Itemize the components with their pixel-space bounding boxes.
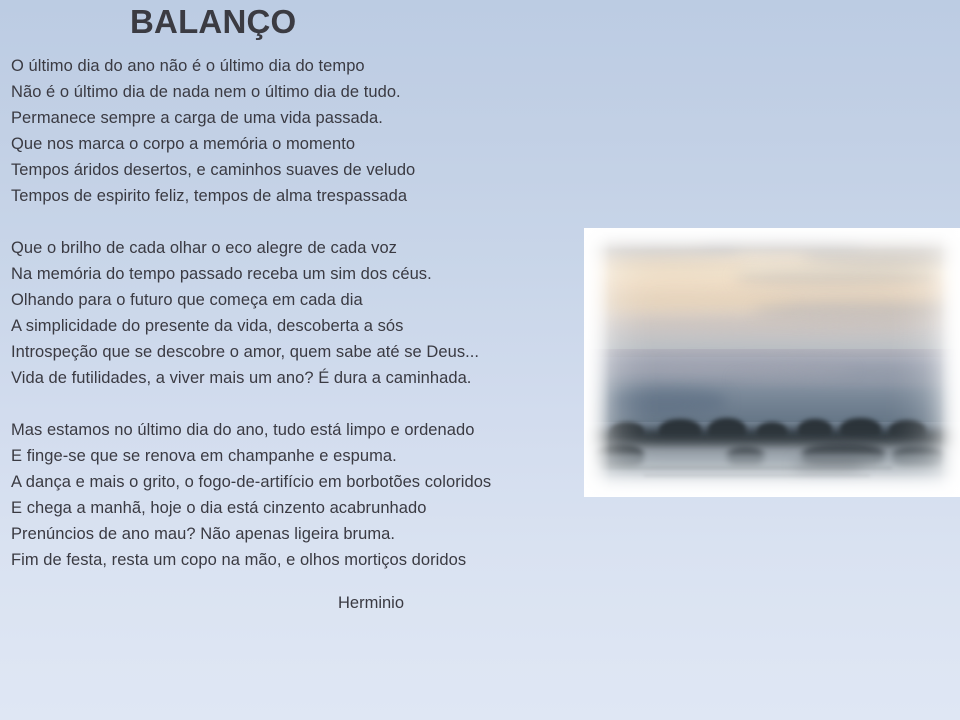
poem-line: Fim de festa, resta um copo na mão, e ol… [11, 547, 611, 573]
poem-line: Vida de futilidades, a viver mais um ano… [11, 365, 611, 391]
photo-cloud [802, 241, 960, 265]
photo-blue-hill-patch [607, 389, 727, 413]
poem-line: Que nos marca o corpo a memória o moment… [11, 131, 611, 157]
poem-line: E finge-se que se renova em champanhe e … [11, 443, 611, 469]
photo-field-line [644, 475, 870, 477]
photo-haze-streak [734, 373, 960, 386]
poem-line: O último dia do ano não é o último dia d… [11, 53, 611, 79]
photo-reed-cluster [795, 459, 863, 472]
page-title: BALANÇO [130, 3, 296, 41]
poem-line: Prenúncios de ano mau? Não apenas ligeir… [11, 521, 611, 547]
poem-line: Na memória do tempo passado receba um si… [11, 261, 611, 287]
poem-line: Olhando para o futuro que começa em cada… [11, 287, 611, 313]
poem-stanza: Mas estamos no último dia do ano, tudo e… [11, 417, 611, 573]
poem-line: Mas estamos no último dia do ano, tudo e… [11, 417, 611, 443]
poem-stanza: Que o brilho de cada olhar o eco alegre … [11, 235, 611, 391]
poem-line: Não é o último dia de nada nem o último … [11, 79, 611, 105]
misty-dawn-landscape-photo [584, 228, 960, 497]
poem-line: Tempos de espirito feliz, tempos de alma… [11, 183, 611, 209]
photo-tree-clump [798, 419, 832, 439]
author-signature: Herminio [338, 590, 404, 616]
poem-line: Introspeção que se descobre o amor, quem… [11, 339, 611, 365]
poem-line: Que o brilho de cada olhar o eco alegre … [11, 235, 611, 261]
slide-canvas: BALANÇO O último dia do ano não é o últi… [0, 0, 960, 720]
poem-stanza: O último dia do ano não é o último dia d… [11, 53, 611, 209]
photo-tree-clump [840, 418, 881, 440]
poem-line: A simplicidade do presente da vida, desc… [11, 313, 611, 339]
photo-artwork [584, 228, 960, 497]
poem-line: Tempos áridos desertos, e caminhos suave… [11, 157, 611, 183]
photo-cloud [622, 317, 923, 333]
poem-line: A dança e mais o grito, o fogo-de-artifí… [11, 469, 611, 495]
poem-line: Permanece sempre a carga de uma vida pas… [11, 105, 611, 131]
poem-line: E chega a manhã, hoje o dia está cinzent… [11, 495, 611, 521]
poem-body: O último dia do ano não é o último dia d… [11, 53, 611, 599]
